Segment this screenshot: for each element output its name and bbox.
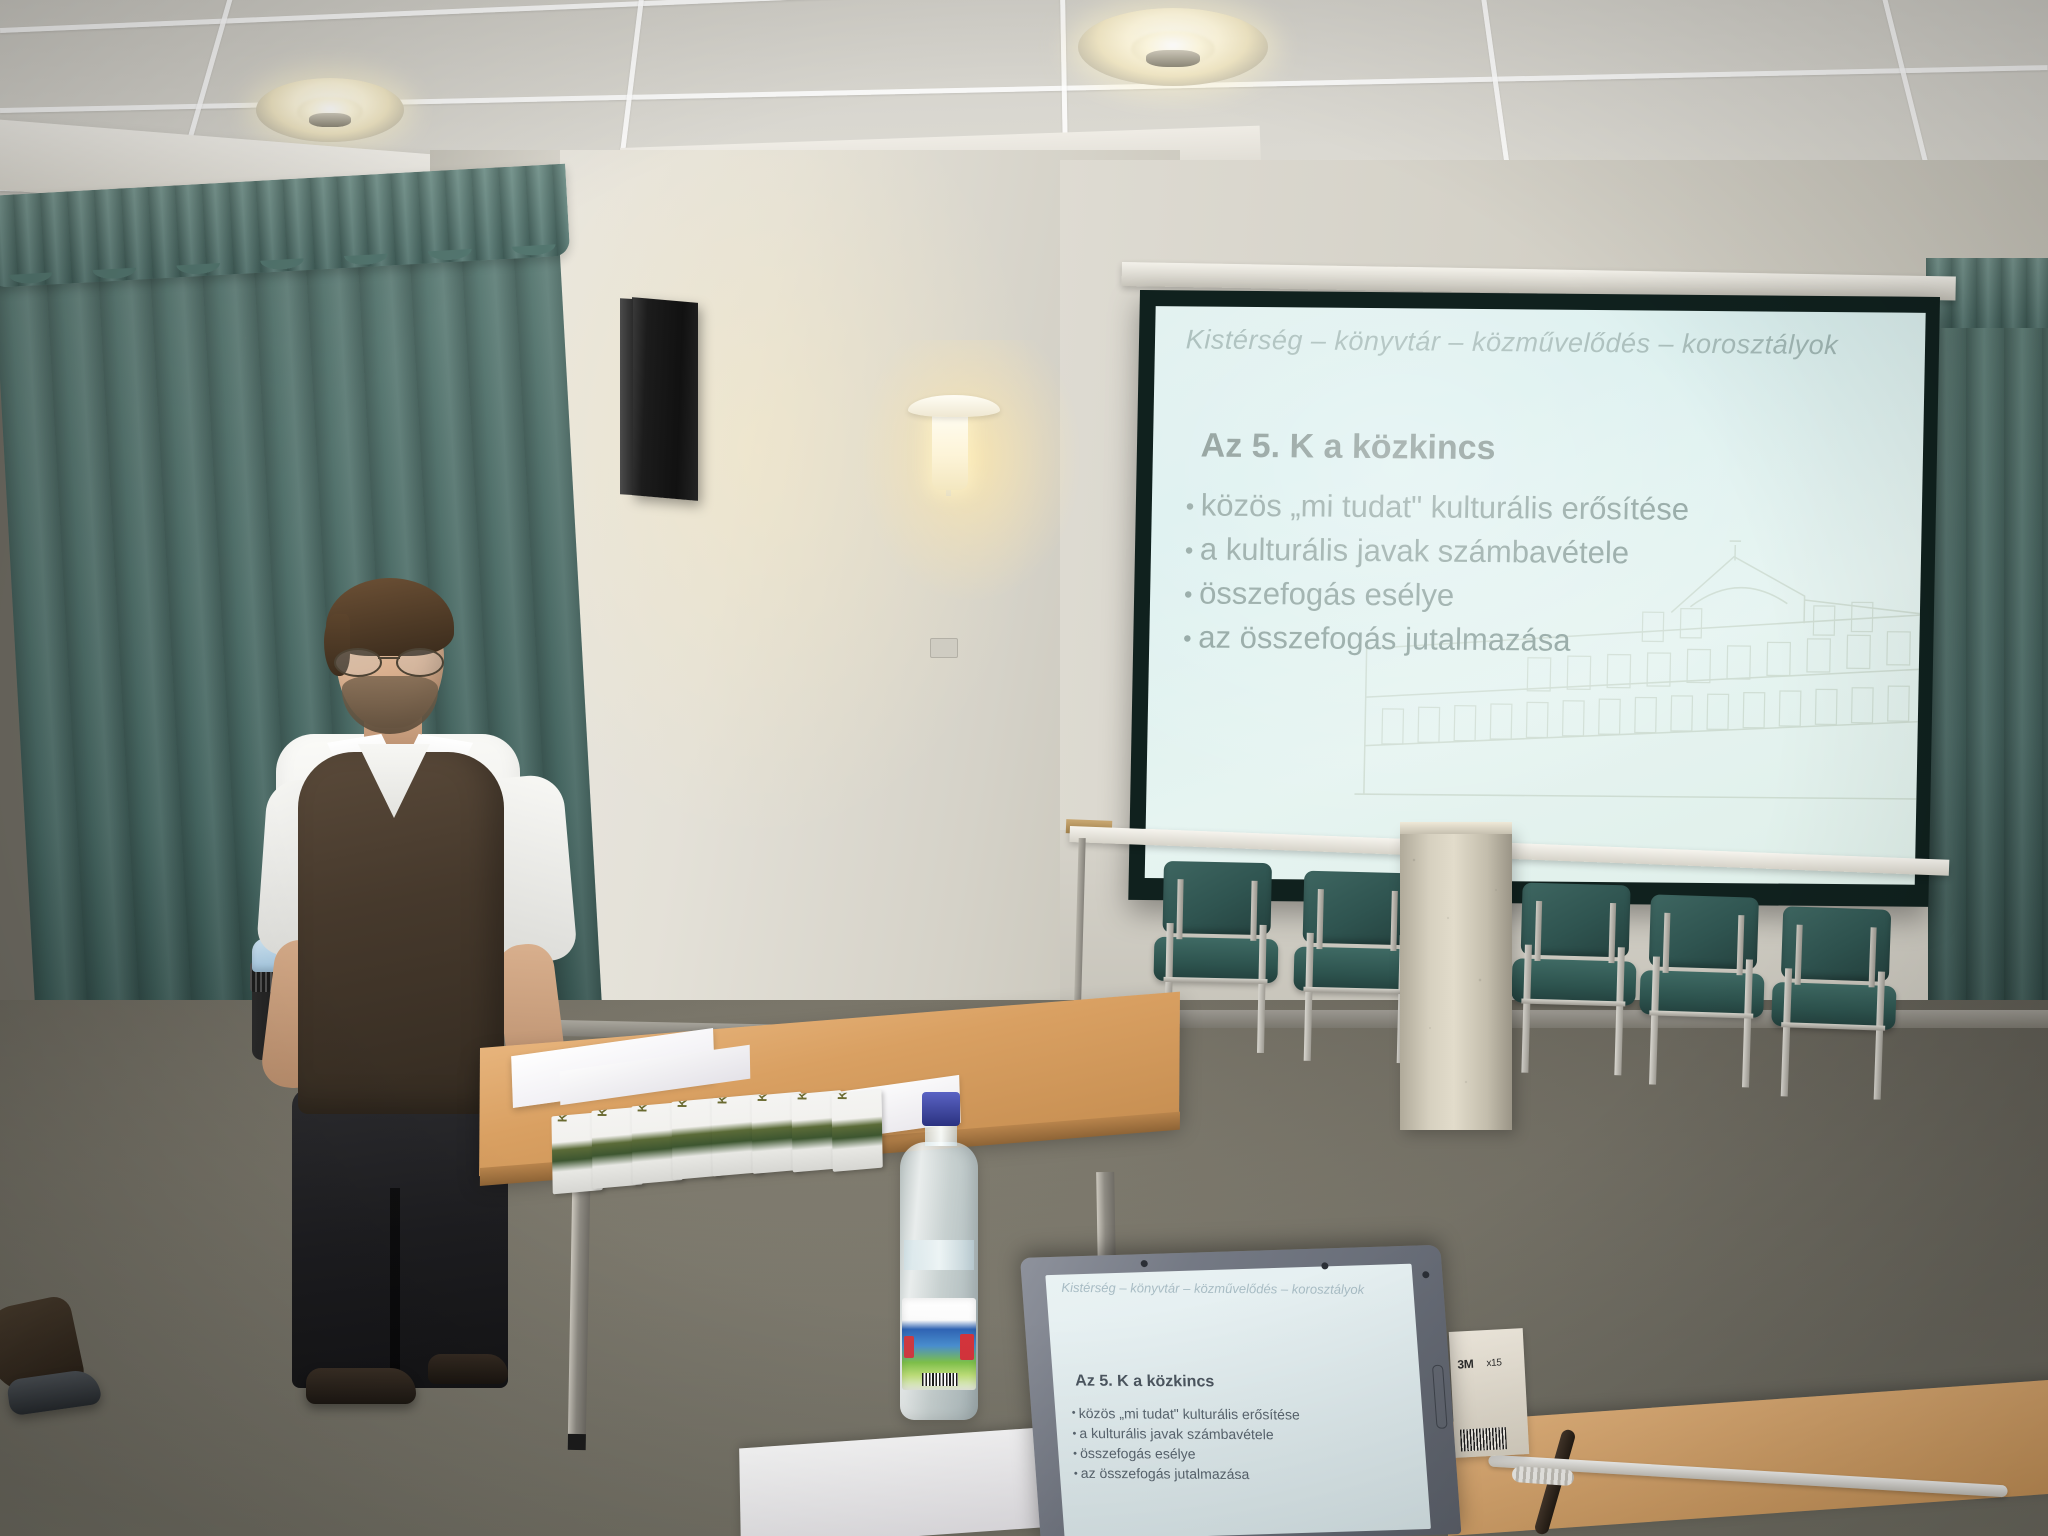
brochure-title: Kanizsa — [555, 1112, 574, 1122]
ceiling-light-center — [1078, 8, 1268, 86]
brochure-title: Kanizsa — [594, 1107, 613, 1117]
projection-screen-surface: Kistérség – könyvtár – közművelődés – ko… — [1145, 306, 1926, 885]
bottle-cap — [922, 1092, 960, 1126]
wall-speaker — [632, 297, 698, 501]
stone-pillar-cap — [1400, 822, 1512, 834]
chair[interactable] — [1767, 906, 1902, 1100]
bottle-waist — [904, 1240, 974, 1270]
chair[interactable] — [1635, 894, 1769, 1088]
slide-header: Kistérség – könyvtár – közművelődés – ko… — [1186, 325, 1839, 362]
laptop-webcam-icon — [1140, 1260, 1148, 1267]
curtain-right — [1928, 262, 2048, 1122]
conference-room-photo: Kistérség – könyvtár – közművelődés – ko… — [0, 0, 2048, 1536]
slide-bullet: a kulturális javak számbavétele — [1184, 528, 1688, 576]
laptop-lid: Kistérség – könyvtár – közművelődés – ko… — [1020, 1245, 1461, 1536]
laptop-bezel-button[interactable] — [1432, 1365, 1448, 1429]
presenter-beard — [342, 676, 438, 734]
laptop-bullet: a kulturális javak számbavétele — [1072, 1423, 1301, 1445]
presenter-sweater-vest — [298, 752, 504, 1114]
laptop-bullet-list: közös „mi tudat" kulturális erősítése a … — [1071, 1403, 1302, 1485]
stone-pillar — [1400, 830, 1512, 1130]
ceiling-light-left — [256, 78, 404, 142]
laptop-bezel-dot — [1422, 1271, 1430, 1278]
presenter-shoe-left — [306, 1368, 416, 1404]
water-bottle[interactable] — [892, 1092, 984, 1422]
slide-title: Az 5. K a közkincs — [1200, 427, 1496, 469]
presenter-trousers — [292, 1088, 508, 1388]
laptop-slide-header: Kistérség – könyvtár – közművelődés – ko… — [1061, 1280, 1364, 1297]
chair[interactable] — [1507, 882, 1640, 1075]
bottle-neck — [925, 1124, 957, 1146]
laptop-slide-title: Az 5. K a közkincs — [1075, 1373, 1215, 1392]
slide-bullet: közös „mi tudat" kulturális erősítése — [1185, 484, 1689, 532]
laptop-bullet: az összefogás jutalmazása — [1073, 1463, 1302, 1485]
presenter-shoe-right — [428, 1354, 508, 1384]
projection-screen[interactable]: Kistérség – könyvtár – közművelődés – ko… — [1128, 290, 1940, 907]
wall-outlet — [930, 638, 958, 658]
bottle-label — [902, 1298, 976, 1390]
slide-bullet-list: közös „mi tudat" kulturális erősítése a … — [1183, 484, 1690, 664]
laptop[interactable]: Kistérség – könyvtár – közművelődés – ko… — [1020, 1258, 1540, 1536]
slide-bullet: az összefogás jutalmazása — [1183, 616, 1687, 664]
laptop-screen[interactable]: Kistérség – könyvtár – közművelődés – ko… — [1045, 1264, 1431, 1536]
presenter-leg-seam — [390, 1188, 400, 1388]
wall-sconce-tube — [932, 412, 968, 490]
presenter — [232, 548, 592, 1358]
presenter-glasses-icon — [332, 648, 446, 674]
laptop-bullet: összefogás esélye — [1072, 1443, 1301, 1465]
slide-bullet: összefogás esélye — [1184, 572, 1688, 620]
laptop-bullet: közös „mi tudat" kulturális erősítése — [1071, 1403, 1300, 1425]
laptop-bezel-dot — [1321, 1262, 1329, 1269]
